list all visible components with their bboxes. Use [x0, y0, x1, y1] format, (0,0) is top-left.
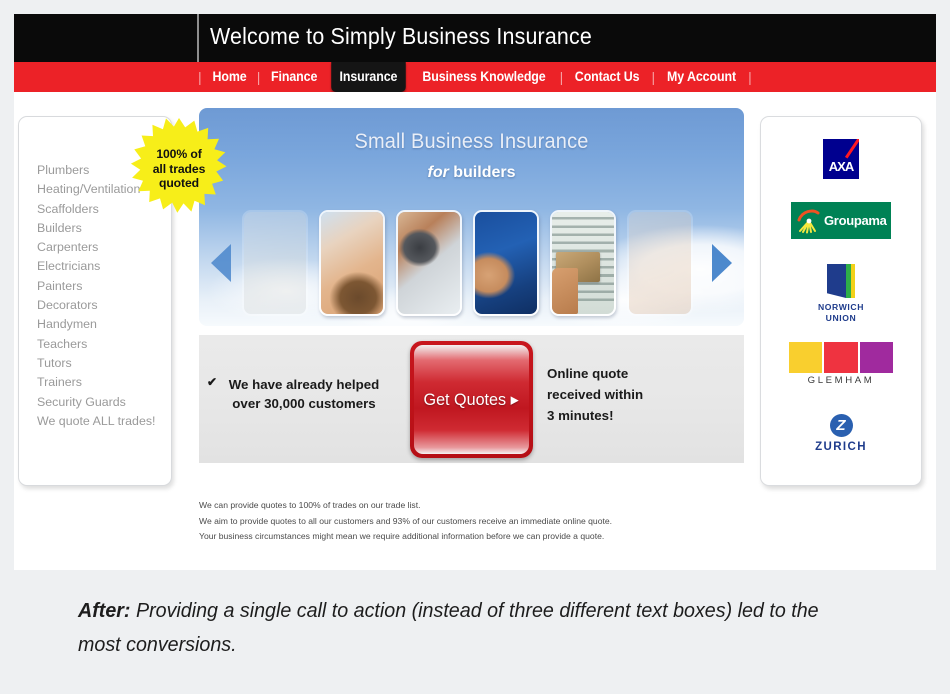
zurich-mark-icon: Z — [830, 414, 853, 437]
figure-caption: After: Providing a single call to action… — [78, 594, 856, 662]
glemham-color-swatches — [789, 342, 893, 373]
list-item[interactable]: Electricians — [37, 257, 167, 276]
cta-left-line2: over 30,000 customers — [207, 394, 401, 413]
norwich-union-mark-icon — [827, 264, 855, 298]
main-navigation-bar: | Home | Finance Insurance Business Know… — [14, 62, 936, 92]
carousel-thumbnail[interactable] — [473, 210, 539, 316]
cta-right-line1: Online quote — [547, 363, 643, 384]
insurer-logo-norwich-union[interactable]: NORWICH UNION — [761, 264, 921, 323]
glemham-logo-icon: GLEMHAM — [789, 342, 893, 386]
zurich-logo-word: ZURICH — [815, 441, 867, 453]
badge-line-3: quoted — [159, 176, 199, 191]
list-item[interactable]: Teachers — [37, 335, 167, 354]
nav-item-insurance[interactable]: Insurance — [331, 62, 405, 92]
insurer-logo-glemham[interactable]: GLEMHAM — [761, 342, 921, 386]
list-item[interactable]: Builders — [37, 219, 167, 238]
insurer-logo-axa[interactable]: AXA — [761, 139, 921, 179]
title-divider — [197, 14, 199, 62]
list-item[interactable]: Trainers — [37, 373, 167, 392]
hero-subtitle-rest: builders — [449, 164, 516, 181]
nav-item-finance[interactable]: Finance — [264, 62, 325, 92]
insurer-logo-zurich[interactable]: Z ZURICH — [761, 414, 921, 453]
carousel-next-arrow-icon[interactable] — [712, 244, 732, 282]
website-screenshot-page: Welcome to Simply Business Insurance | H… — [14, 14, 936, 570]
groupama-logo-icon: Groupama — [791, 202, 891, 239]
glemham-swatch-purple — [860, 342, 893, 373]
list-item[interactable]: Painters — [37, 277, 167, 296]
cta-right-line3: 3 minutes! — [547, 405, 643, 426]
hero-subtitle-italic: for — [427, 164, 448, 181]
caption-text: Providing a single call to action (inste… — [78, 599, 819, 656]
list-item[interactable]: We quote ALL trades! — [37, 412, 167, 431]
carousel-thumbnail[interactable] — [396, 210, 462, 316]
norwich-union-line2: UNION — [818, 313, 864, 324]
nav-item-contact-us[interactable]: Contact Us — [568, 62, 647, 92]
badge-line-1: 100% of — [156, 147, 201, 162]
axa-logo-icon: AXA — [823, 139, 859, 179]
norwich-union-logo-text: NORWICH UNION — [818, 302, 864, 323]
get-quotes-button[interactable]: Get Quotes ▸ — [410, 341, 533, 458]
get-quotes-button-face: Get Quotes ▸ — [414, 345, 529, 454]
axa-logo-letters: AXA — [823, 159, 859, 174]
badge-line-2: all trades — [153, 162, 206, 177]
nav-separator: | — [197, 62, 203, 92]
nav-separator: | — [256, 62, 262, 92]
glemham-swatch-yellow — [789, 342, 822, 373]
call-to-action-panel: ✔ We have already helped over 30,000 cus… — [199, 335, 744, 463]
cta-right-line2: received within — [547, 384, 643, 405]
glemham-logo-word: GLEMHAM — [789, 373, 893, 386]
nav-item-business-knowledge[interactable]: Business Knowledge — [415, 62, 553, 92]
insurer-logo-groupama[interactable]: Groupama — [761, 202, 921, 239]
image-carousel — [199, 204, 744, 322]
nav-separator: | — [651, 62, 657, 92]
arrow-right-icon: ▸ — [511, 390, 519, 409]
fine-print-line-1: We can provide quotes to 100% of trades … — [199, 498, 719, 514]
list-item[interactable]: Tutors — [37, 354, 167, 373]
carousel-prev-arrow-icon[interactable] — [211, 244, 231, 282]
hero-banner: Small Business Insurance for builders — [199, 108, 744, 326]
get-quotes-button-label: Get Quotes ▸ — [424, 390, 519, 410]
carousel-thumbnail[interactable] — [627, 210, 693, 316]
cta-left-line1: We have already helped — [207, 375, 401, 394]
nav-separator: | — [559, 62, 565, 92]
cta-right-text: Online quote received within 3 minutes! — [547, 363, 643, 426]
page-title: Welcome to Simply Business Insurance — [210, 23, 592, 50]
site-title-bar: Welcome to Simply Business Insurance — [14, 14, 936, 62]
nav-item-home[interactable]: Home — [205, 62, 254, 92]
hero-subtitle: for builders — [199, 164, 744, 182]
starburst-badge-text: 100% of all trades quoted — [128, 118, 230, 220]
list-item[interactable]: Handymen — [37, 315, 167, 334]
groupama-logo-word: Groupama — [824, 213, 887, 228]
list-item[interactable]: Decorators — [37, 296, 167, 315]
starburst-badge: 100% of all trades quoted — [128, 118, 230, 220]
fine-print-line-2: We aim to provide quotes to all our cust… — [199, 514, 719, 530]
fine-print-disclaimer: We can provide quotes to 100% of trades … — [199, 498, 719, 545]
carousel-thumbnail[interactable] — [242, 210, 308, 316]
list-item[interactable]: Carpenters — [37, 238, 167, 257]
hero-title: Small Business Insurance — [213, 130, 731, 154]
nav-separator: | — [747, 62, 753, 92]
fine-print-line-3: Your business circumstances might mean w… — [199, 529, 719, 545]
nav-items-container: | Home | Finance Insurance Business Know… — [197, 62, 753, 92]
glemham-swatch-red — [824, 342, 857, 373]
list-item[interactable]: Security Guards — [37, 393, 167, 412]
nav-item-my-account[interactable]: My Account — [660, 62, 744, 92]
caption-label: After: — [78, 599, 130, 622]
insurer-logos-card: AXA — [760, 116, 922, 486]
carousel-thumbnail[interactable] — [319, 210, 385, 316]
groupama-sunburst-icon — [796, 208, 822, 234]
norwich-union-line1: NORWICH — [818, 302, 864, 313]
carousel-thumbnail[interactable] — [550, 210, 616, 316]
cta-left-text: We have already helped over 30,000 custo… — [207, 375, 401, 413]
